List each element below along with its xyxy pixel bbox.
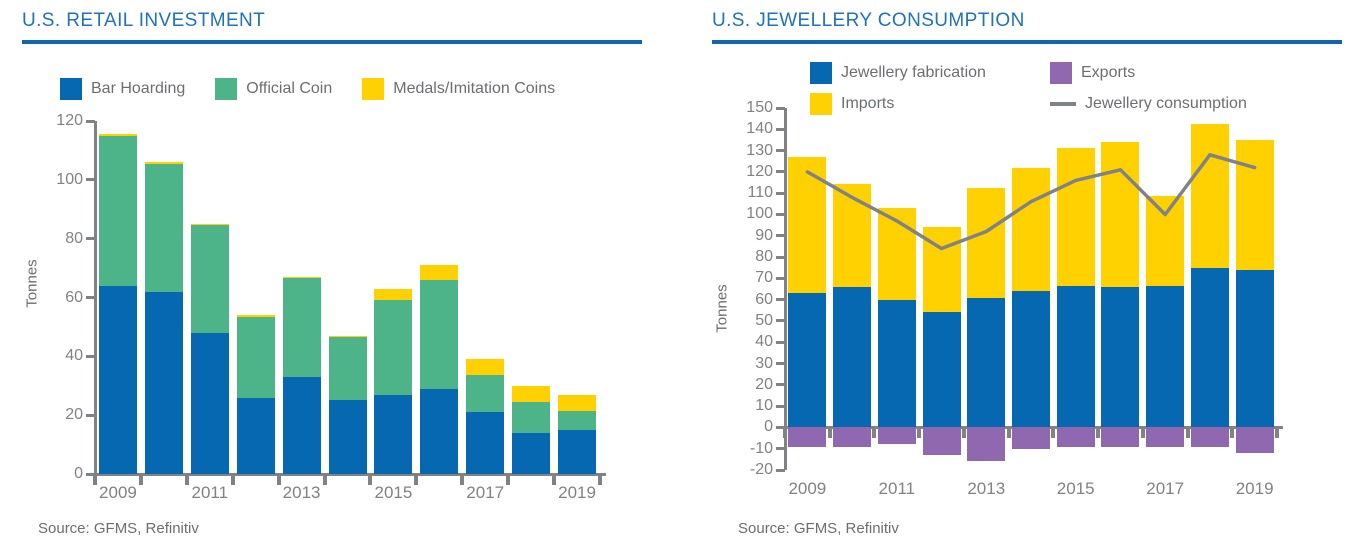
bar-segment[interactable] <box>374 395 412 474</box>
charts-page: U.S. RETAIL INVESTMENT Bar Hoarding Offi… <box>0 0 1355 560</box>
plot-area-left: 020406080100120200920112013201520172019 <box>0 0 678 560</box>
y-axis-tickmark <box>86 178 95 181</box>
bar-segment[interactable] <box>99 134 137 135</box>
bar-segment[interactable] <box>374 289 412 301</box>
bar-segment[interactable] <box>558 411 596 430</box>
bar-segment[interactable] <box>420 389 458 474</box>
bar-segment[interactable] <box>145 162 183 163</box>
y-axis-tickmark <box>86 120 95 123</box>
bar-segment[interactable] <box>512 433 550 474</box>
bar-segment[interactable] <box>558 430 596 474</box>
bar-segment[interactable] <box>466 359 504 375</box>
x-axis-tickmark <box>139 473 143 485</box>
source-note-right: Source: GFMS, Refinitiv <box>738 520 899 537</box>
bar-segment[interactable] <box>329 337 367 400</box>
panel-us-jewellery-consumption: U.S. JEWELLERY CONSUMPTION Jewellery fab… <box>700 0 1355 560</box>
y-axis-tick-label: 100 <box>27 172 83 188</box>
x-axis-tickmark <box>598 473 602 485</box>
bar-segment[interactable] <box>329 400 367 474</box>
bar-segment[interactable] <box>99 136 137 286</box>
x-axis-tickmark <box>414 473 418 485</box>
bar-segment[interactable] <box>283 377 321 474</box>
bar-segment[interactable] <box>191 225 229 332</box>
source-note-left: Source: GFMS, Refinitiv <box>38 520 199 537</box>
bar-segment[interactable] <box>374 300 412 394</box>
bar-segment[interactable] <box>329 336 367 337</box>
bar-segment[interactable] <box>99 286 137 474</box>
y-axis-tick-label: 40 <box>27 348 83 364</box>
bar-segment[interactable] <box>420 265 458 280</box>
bar-segment[interactable] <box>145 164 183 292</box>
bar-segment[interactable] <box>466 412 504 474</box>
bar-segment[interactable] <box>512 386 550 402</box>
bar-segment[interactable] <box>466 375 504 412</box>
bar-segment[interactable] <box>145 292 183 474</box>
x-axis-tick-label: 2019 <box>532 484 622 501</box>
x-axis-tick-label: 2017 <box>440 484 530 501</box>
y-axis-tick-label: 80 <box>27 231 83 247</box>
bar-segment[interactable] <box>558 395 596 411</box>
y-axis-tickmark <box>86 414 95 417</box>
x-axis-tickmark <box>506 473 510 485</box>
y-axis-tick-label: 60 <box>27 290 83 306</box>
bar-segment[interactable] <box>237 317 275 398</box>
bar-segment[interactable] <box>191 333 229 474</box>
bar-segment[interactable] <box>283 277 321 278</box>
panel-us-retail-investment: U.S. RETAIL INVESTMENT Bar Hoarding Offi… <box>0 0 678 560</box>
x-axis-tick-label: 2011 <box>165 484 255 501</box>
x-axis-tick-label: 2013 <box>257 484 347 501</box>
x-axis-tick-label: 2009 <box>73 484 163 501</box>
bar-segment[interactable] <box>420 280 458 389</box>
x-axis-tick-label: 2015 <box>348 484 438 501</box>
y-axis-tickmark <box>86 296 95 299</box>
x-axis-tickmark <box>231 473 235 485</box>
x-axis-tickmark <box>323 473 327 485</box>
y-axis-tick-label: 20 <box>27 407 83 423</box>
y-axis-tickmark <box>86 355 95 358</box>
y-axis-tick-label: 120 <box>27 113 83 129</box>
bar-segment[interactable] <box>512 402 550 433</box>
y-axis-tick-label: 0 <box>27 466 83 482</box>
y-axis-tickmark <box>86 237 95 240</box>
bar-segment[interactable] <box>237 315 275 316</box>
bar-segment[interactable] <box>191 224 229 225</box>
jewellery-consumption-line <box>700 0 1355 560</box>
plot-area-right: -20-100102030405060708090100110120130140… <box>700 0 1355 560</box>
bar-segment[interactable] <box>237 398 275 474</box>
bar-segment[interactable] <box>283 278 321 377</box>
